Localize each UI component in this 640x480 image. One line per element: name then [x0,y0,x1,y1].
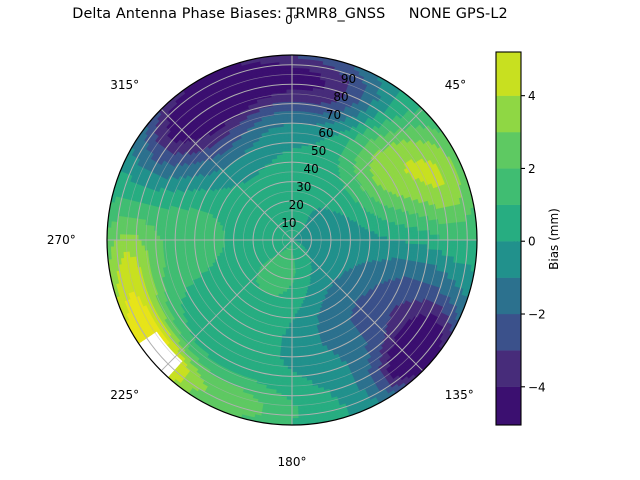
theta-tick-label-180: 180° [278,455,307,469]
colorbar-band [496,52,521,96]
theta-tick-label-315: 315° [110,78,139,92]
colorbar-ticks: −4−2024 [521,89,546,394]
colorbar-band [496,168,521,204]
colorbar-tick-label: −4 [528,380,546,394]
colorbar-band [496,96,521,132]
colorbar-band [496,278,521,314]
colorbar-band [496,132,521,168]
figure-canvas: Delta Antenna Phase Biases: TRMR8_GNSS N… [0,0,640,480]
colorbar-band [496,350,521,386]
colorbar-tick-label: 0 [528,235,536,249]
colorbar-band [496,387,521,425]
radial-tick-label-40: 40 [304,162,319,176]
theta-tick-label-0: 0° [285,13,299,27]
theta-tick-label-135: 135° [445,388,474,402]
radial-tick-label-70: 70 [326,108,341,122]
theta-tick-label-45: 45° [445,78,466,92]
radial-tick-label-10: 10 [281,216,296,230]
theta-tick-label-225: 225° [110,388,139,402]
colorbar-axis-title: Bias (mm) [547,208,561,270]
radial-tick-label-50: 50 [311,144,326,158]
polar-grid [107,55,477,425]
theta-tick-label-270: 270° [47,233,76,247]
radial-tick-label-80: 80 [333,90,348,104]
colorbar-swatches [496,52,521,425]
colorbar-tick-label: 2 [528,162,536,176]
colorbar-tick-label: 4 [528,89,536,103]
radial-tick-label-30: 30 [296,180,311,194]
colorbar-axes: −4−2024Bias (mm) [480,0,640,480]
radial-tick-label-20: 20 [289,198,304,212]
radial-tick-label-60: 60 [318,126,333,140]
colorbar-band [496,205,521,241]
colorbar-band [496,314,521,350]
polar-skyplot-axes: 0°45°90°135°180°225°270°315°102030405060… [0,0,520,480]
radial-tick-label-90: 90 [341,72,356,86]
colorbar-tick-label: −2 [528,308,546,322]
colorbar-band [496,241,521,277]
